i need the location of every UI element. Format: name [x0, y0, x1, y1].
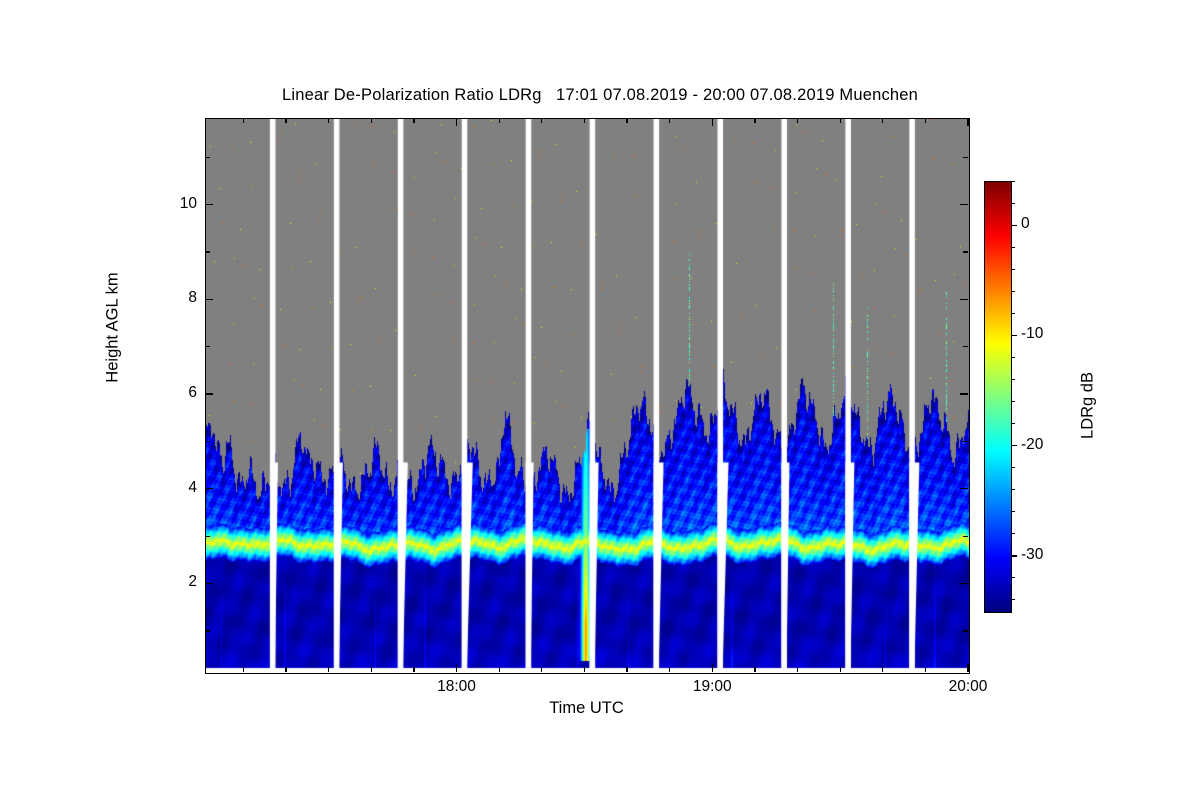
y-tick-right-3	[963, 536, 968, 537]
y-tick-right-8	[960, 299, 968, 300]
colorbar-gradient	[985, 182, 1011, 612]
y-tick-11	[205, 157, 210, 158]
colorbar-tick-minor--2	[1012, 247, 1015, 248]
y-tick-right-7	[963, 346, 968, 347]
x-tick-1190	[925, 667, 926, 672]
y-tick-3	[205, 536, 210, 537]
x-tick-1080	[456, 664, 457, 672]
colorbar-tick--30	[1012, 555, 1017, 556]
colorbar-tick-minor--34	[1012, 599, 1015, 600]
x-tick-1120	[626, 667, 627, 672]
x-tick-1110	[584, 667, 585, 672]
colorbar-tick-label--20: -20	[1021, 436, 1043, 454]
y-tick-1	[205, 630, 210, 631]
y-tick-5	[205, 441, 210, 442]
x-tick-label-1800: 18:00	[411, 678, 501, 696]
colorbar-tick-label-0: 0	[1021, 215, 1030, 233]
colorbar-tick-minor--16	[1012, 401, 1015, 402]
ldr-heatmap	[206, 119, 969, 673]
colorbar-tick-minor--4	[1012, 269, 1015, 270]
x-axis-label: Time UTC	[205, 699, 968, 718]
y-tick-right-10	[960, 204, 968, 205]
y-tick-4	[205, 488, 213, 489]
colorbar-label: LDRg dB	[1079, 296, 1098, 516]
colorbar-tick--20	[1012, 445, 1017, 446]
figure-canvas: Linear De-Polarization Ratio LDRg 17:01 …	[0, 0, 1200, 800]
colorbar	[984, 181, 1012, 613]
colorbar-tick-minor--12	[1012, 357, 1015, 358]
x-tick-top-1130	[669, 118, 670, 123]
x-tick-top-1180	[882, 118, 883, 123]
x-tick-top-1170	[840, 118, 841, 123]
colorbar-tick-minor--24	[1012, 489, 1015, 490]
x-tick-1050	[328, 667, 329, 672]
x-tick-top-1100	[541, 118, 542, 123]
x-tick-1070	[413, 667, 414, 672]
y-tick-right-2	[960, 583, 968, 584]
x-tick-top-1090	[499, 118, 500, 123]
y-axis-label: Height AGL km	[104, 208, 123, 448]
colorbar-tick-minor--26	[1012, 511, 1015, 512]
x-tick-1040	[285, 667, 286, 672]
heatmap-plot-area	[205, 118, 970, 674]
x-tick-top-1150	[754, 118, 755, 123]
y-tick-label-4: 4	[157, 479, 197, 497]
y-tick-10	[205, 204, 213, 205]
colorbar-tick-label--30: -30	[1021, 546, 1043, 564]
x-tick-1170	[840, 667, 841, 672]
y-tick-label-6: 6	[157, 384, 197, 402]
colorbar-tick-0	[1012, 225, 1017, 226]
x-tick-1130	[669, 667, 670, 672]
x-tick-top-1190	[925, 118, 926, 123]
y-tick-2	[205, 583, 213, 584]
x-tick-top-1160	[797, 118, 798, 123]
y-tick-right-4	[960, 488, 968, 489]
y-tick-right-9	[963, 251, 968, 252]
colorbar-tick-minor--14	[1012, 379, 1015, 380]
x-tick-label-1900: 19:00	[667, 678, 757, 696]
x-tick-top-1110	[584, 118, 585, 123]
colorbar-tick-minor--6	[1012, 291, 1015, 292]
x-tick-top-1080	[456, 118, 457, 126]
x-tick-top-1120	[626, 118, 627, 123]
x-tick-1090	[499, 667, 500, 672]
colorbar-tick-minor--8	[1012, 313, 1015, 314]
y-tick-label-2: 2	[157, 573, 197, 591]
x-tick-top-1200	[967, 118, 968, 126]
x-tick-1160	[797, 667, 798, 672]
x-tick-1180	[882, 667, 883, 672]
colorbar-tick-minor-4	[1012, 181, 1015, 182]
y-tick-6	[205, 393, 213, 394]
colorbar-tick-minor--22	[1012, 467, 1015, 468]
x-tick-1100	[541, 667, 542, 672]
y-tick-label-8: 8	[157, 289, 197, 307]
x-tick-top-1070	[413, 118, 414, 123]
y-tick-8	[205, 299, 213, 300]
x-tick-top-1030	[243, 118, 244, 123]
y-tick-9	[205, 251, 210, 252]
colorbar-tick-label--10: -10	[1021, 325, 1043, 343]
y-tick-label-10: 10	[157, 195, 197, 213]
y-tick-right-5	[963, 441, 968, 442]
colorbar-tick-minor--32	[1012, 577, 1015, 578]
colorbar-tick--10	[1012, 335, 1017, 336]
colorbar-tick-minor-2	[1012, 203, 1015, 204]
y-tick-7	[205, 346, 210, 347]
y-tick-right-1	[963, 630, 968, 631]
x-tick-1060	[371, 667, 372, 672]
x-tick-1200	[967, 664, 968, 672]
x-tick-1150	[754, 667, 755, 672]
x-tick-1030	[243, 667, 244, 672]
x-tick-1140	[712, 664, 713, 672]
y-tick-right-11	[963, 157, 968, 158]
x-tick-top-1050	[328, 118, 329, 123]
colorbar-tick-minor--28	[1012, 533, 1015, 534]
x-tick-top-1040	[285, 118, 286, 123]
y-tick-right-6	[960, 393, 968, 394]
colorbar-tick-minor--18	[1012, 423, 1015, 424]
x-tick-top-1060	[371, 118, 372, 123]
x-tick-label-2000: 20:00	[923, 678, 1013, 696]
x-tick-top-1140	[712, 118, 713, 126]
